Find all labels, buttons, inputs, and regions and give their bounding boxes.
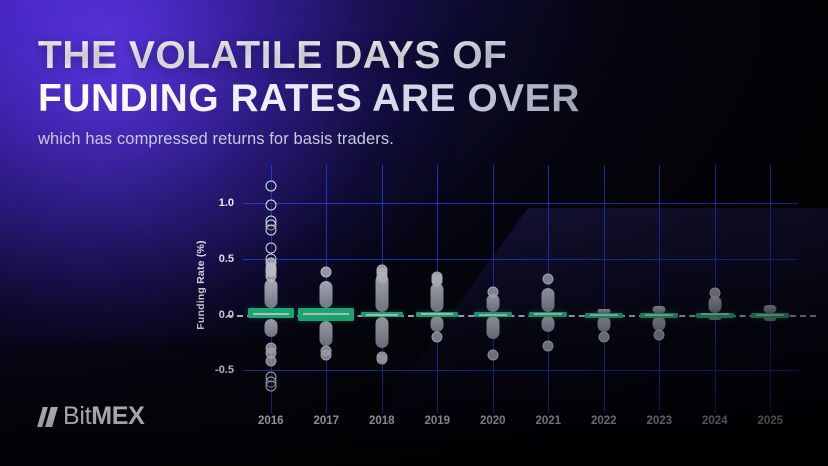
whisker-upper: [320, 281, 333, 308]
outlier-point: [709, 288, 720, 299]
bitmex-mark-icon: [40, 407, 55, 427]
box-plot-group-2016[interactable]: [243, 175, 299, 395]
x-axis-tick-label: 2016: [258, 415, 284, 427]
median-line: [701, 313, 729, 315]
outlier-point: [543, 340, 554, 351]
median-line: [303, 313, 349, 315]
median-line: [645, 314, 673, 316]
median-line: [366, 314, 398, 316]
y-axis-label: Funding Rate (%): [190, 195, 212, 375]
median-line: [590, 314, 618, 316]
outlier-point: [265, 381, 276, 392]
outlier-point: [376, 354, 387, 365]
outlier-point: [487, 349, 498, 360]
x-axis-tick-label: 2022: [591, 415, 617, 427]
outlier-point: [265, 270, 276, 281]
y-axis-tick-label: 0.5: [219, 253, 243, 265]
whisker-lower: [375, 317, 388, 348]
box-plot-group-2021[interactable]: [521, 175, 577, 395]
y-axis-tick-label: -0.5: [215, 364, 243, 376]
whisker-lower: [431, 316, 444, 332]
whisker-upper: [653, 306, 666, 313]
x-axis-tick-label: 2025: [757, 415, 783, 427]
box-plot-group-2024[interactable]: [687, 175, 743, 395]
whisker-lower: [320, 321, 333, 346]
outlier-point: [487, 287, 498, 298]
outlier-point: [432, 331, 443, 342]
outlier-point: [598, 331, 609, 342]
whisker-upper: [431, 283, 444, 312]
x-axis-tick-label: 2020: [480, 415, 506, 427]
box-plot-group-2025[interactable]: [743, 175, 799, 395]
median-line: [253, 313, 289, 315]
whisker-upper: [542, 288, 555, 313]
outlier-point: [265, 181, 276, 192]
median-line: [756, 314, 784, 316]
box-plot-group-2019[interactable]: [410, 175, 466, 395]
poster-canvas: THE VOLATILE DAYS OF FUNDING RATES ARE O…: [0, 0, 828, 466]
brand-name-light: Bit: [63, 402, 91, 430]
plot-area: 1.00.50.0-0.5201620172018201920202021202…: [243, 175, 798, 395]
outlier-point: [265, 242, 276, 253]
brand-name-bold: MEX: [91, 402, 144, 430]
x-axis-tick-label: 2019: [424, 415, 450, 427]
outlier-point: [265, 200, 276, 211]
whisker-lower: [264, 319, 277, 337]
brand-logo: BitMEX: [40, 404, 145, 429]
whisker-lower: [486, 316, 499, 339]
box-plot-group-2020[interactable]: [465, 175, 521, 395]
box-plot-group-2017[interactable]: [299, 175, 355, 395]
outlier-point: [265, 356, 276, 367]
brand-name: BitMEX: [63, 404, 145, 429]
box-plot-group-2022[interactable]: [576, 175, 632, 395]
median-line: [421, 313, 453, 315]
box-plot-group-2023[interactable]: [632, 175, 688, 395]
median-line: [479, 314, 507, 316]
outlier-point: [321, 267, 332, 278]
y-axis-tick-label: 1.0: [219, 197, 243, 209]
chart: Funding Rate (%) 1.00.50.0-0.52016201720…: [0, 0, 828, 466]
outlier-point: [376, 271, 387, 282]
x-axis-tick-label: 2017: [313, 415, 339, 427]
outlier-point: [432, 276, 443, 287]
median-line: [534, 313, 562, 315]
outlier-point: [654, 329, 665, 340]
whisker-lower: [542, 316, 555, 333]
x-axis-tick-label: 2021: [535, 415, 561, 427]
box-plot-group-2018[interactable]: [354, 175, 410, 395]
x-axis-tick-label: 2018: [369, 415, 395, 427]
y-axis-label-text: Funding Rate (%): [195, 240, 207, 330]
outlier-point: [543, 273, 554, 284]
whisker-upper: [764, 305, 777, 313]
outlier-point: [321, 349, 332, 360]
outlier-point: [265, 224, 276, 235]
x-axis-tick-label: 2023: [646, 415, 672, 427]
x-axis-tick-label: 2024: [702, 415, 728, 427]
whisker-upper: [264, 279, 277, 309]
